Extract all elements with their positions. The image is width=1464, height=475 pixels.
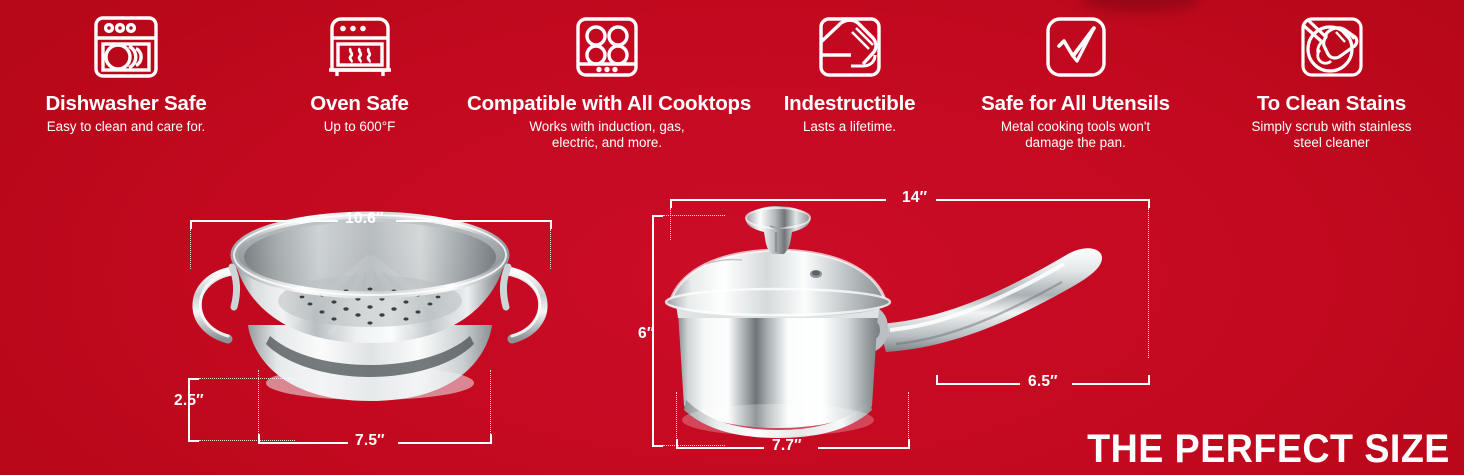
steamer-height-guide-top — [199, 378, 295, 379]
saucepan-length-guide-right — [1148, 208, 1149, 358]
steamer-width-line-right — [396, 220, 552, 222]
saucepan-height-tick-bottom — [652, 445, 663, 447]
product-stage: 10.6″ 7.5″ 2.5″ — [0, 170, 1464, 475]
feature-subtitle: Up to 600°F — [252, 119, 467, 136]
product-feature-banner: Dishwasher Safe Easy to clean and care f… — [0, 0, 1464, 475]
saucepan-height-guide-top — [663, 215, 725, 216]
feature-subtitle: Simply scrub with stainlesssteel cleaner — [1199, 119, 1464, 152]
steamer-base-guide-left — [258, 370, 259, 434]
steamer-height-guide-bottom — [199, 440, 295, 441]
steamer-base-label: 7.5″ — [355, 432, 385, 450]
steamer-product-image — [170, 205, 570, 435]
feature-list: Dishwasher Safe Easy to clean and care f… — [0, 6, 1464, 152]
saucepan-product-image — [650, 192, 1170, 442]
steamer-width-guide-right — [550, 229, 551, 269]
steamer-width-line-left — [190, 220, 338, 222]
feature-title: Indestructible — [747, 92, 952, 116]
steamer-base-tick-left — [258, 434, 260, 443]
feature-item-oven-safe: Oven Safe Up to 600°F — [252, 6, 467, 135]
saucepan-length-label: 14″ — [902, 189, 927, 207]
spatula-pan-icon — [747, 6, 952, 88]
headline-text: THE PERFECT SIZE — [1087, 429, 1450, 469]
steamer-width-tick-left — [190, 220, 192, 229]
feature-item-indestructible: Indestructible Lasts a lifetime. — [747, 6, 952, 135]
feature-item-cooktop-compatible: Compatible with All Cooktops Works with … — [467, 6, 747, 152]
saucepan-handle-label: 6.5″ — [1028, 373, 1058, 391]
feature-title: Safe for All Utensils — [952, 92, 1199, 116]
saucepan-height-label: 6″ — [638, 325, 654, 343]
feature-subtitle: Easy to clean and care for. — [0, 119, 252, 136]
steamer-width-guide-left — [190, 229, 191, 269]
saucepan-base-label: 7.7″ — [772, 437, 802, 455]
steamer-base-line-left — [258, 442, 348, 444]
saucepan-length-line-right — [936, 199, 1150, 201]
feature-title: Compatible with All Cooktops — [467, 92, 747, 116]
saucepan-base-line-right — [818, 447, 910, 449]
saucepan-handle-tick-right — [1148, 375, 1150, 384]
saucepan-handle-line-left — [936, 383, 1020, 385]
saucepan-length-guide-left — [670, 208, 671, 240]
feature-title: Oven Safe — [252, 92, 467, 116]
steamer-height-tick-bottom — [188, 440, 199, 442]
saucepan-base-tick-right — [908, 439, 910, 448]
oven-icon — [252, 6, 467, 88]
steamer-base-guide-right — [490, 370, 491, 434]
steamer-width-tick-right — [550, 220, 552, 229]
saucepan-height-guide-bottom — [663, 445, 725, 446]
saucepan-handle-line-right — [1072, 383, 1150, 385]
steamer-height-tick-top — [188, 378, 199, 380]
saucepan-base-guide-right — [908, 392, 909, 440]
feature-title: Dishwasher Safe — [0, 92, 252, 116]
feature-subtitle: Metal cooking tools won'tdamage the pan. — [952, 119, 1199, 152]
feature-item-dishwasher-safe: Dishwasher Safe Easy to clean and care f… — [0, 6, 252, 135]
feature-subtitle: Lasts a lifetime. — [747, 119, 952, 136]
saucepan-length-tick-left — [670, 199, 672, 208]
steamer-base-tick-right — [490, 434, 492, 443]
saucepan-height-tick-top — [652, 215, 663, 217]
dishwasher-icon — [0, 6, 252, 88]
steamer-height-label: 2.5″ — [174, 392, 204, 410]
scrubbing-hand-icon — [1199, 6, 1464, 88]
checkmark-icon — [952, 6, 1199, 88]
saucepan-length-line-left — [670, 199, 886, 201]
feature-item-utensil-safe: Safe for All Utensils Metal cooking tool… — [952, 6, 1199, 152]
saucepan-base-line-left — [676, 447, 764, 449]
feature-title: To Clean Stains — [1199, 92, 1464, 116]
feature-subtitle: Works with induction, gas,electric, and … — [467, 119, 747, 152]
steamer-width-label: 10.6″ — [345, 210, 384, 228]
steamer-base-line-right — [398, 442, 492, 444]
saucepan-length-tick-right — [1148, 199, 1150, 208]
feature-item-clean-stains: To Clean Stains Simply scrub with stainl… — [1199, 6, 1464, 152]
saucepan-base-guide-left — [676, 392, 677, 440]
cooktop-icon — [467, 6, 747, 88]
saucepan-handle-tick-left — [936, 375, 938, 384]
saucepan-base-tick-left — [676, 439, 678, 448]
